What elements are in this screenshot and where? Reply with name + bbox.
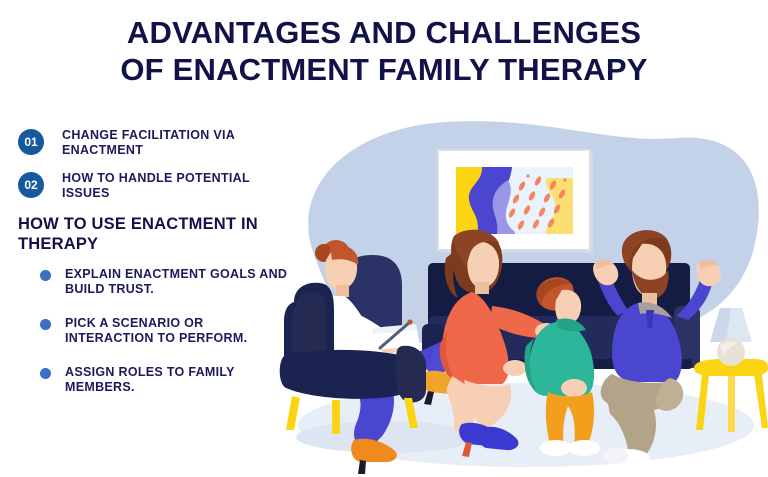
bullet-dot-icon — [40, 319, 51, 330]
content-list: 01 CHANGE FACILITATION VIA ENACTMENT 02 … — [18, 128, 290, 414]
numbered-item: 02 HOW TO HANDLE POTENTIAL ISSUES — [18, 171, 290, 201]
bullet-list: EXPLAIN ENACTMENT GOALS AND BUILD TRUST.… — [18, 267, 290, 395]
list-item: EXPLAIN ENACTMENT GOALS AND BUILD TRUST. — [18, 267, 290, 297]
page-title-line-2: OF ENACTMENT FAMILY THERAPY — [0, 51, 768, 88]
page-title-line-1: ADVANTAGES AND CHALLENGES — [0, 14, 768, 51]
list-item-label: PICK A SCENARIO OR INTERACTION TO PERFOR… — [65, 316, 290, 346]
section-heading: HOW TO USE ENACTMENT IN THERAPY — [18, 214, 290, 254]
numbered-item: 01 CHANGE FACILITATION VIA ENACTMENT — [18, 128, 290, 158]
list-item: PICK A SCENARIO OR INTERACTION TO PERFOR… — [18, 316, 290, 346]
infographic-root: ADVANTAGES AND CHALLENGES OF ENACTMENT F… — [0, 0, 768, 477]
wall-art-content — [456, 167, 573, 234]
bullet-dot-icon — [40, 368, 51, 379]
number-badge: 02 — [18, 172, 44, 198]
list-item: ASSIGN ROLES TO FAMILY MEMBERS. — [18, 365, 290, 395]
table-lamp — [710, 308, 752, 366]
list-item-label: ASSIGN ROLES TO FAMILY MEMBERS. — [65, 365, 290, 395]
bullet-dot-icon — [40, 270, 51, 281]
number-badge: 01 — [18, 129, 44, 155]
list-item-label: EXPLAIN ENACTMENT GOALS AND BUILD TRUST. — [65, 267, 290, 297]
notepad — [372, 324, 420, 350]
page-title: ADVANTAGES AND CHALLENGES OF ENACTMENT F… — [0, 14, 768, 88]
numbered-item-label: CHANGE FACILITATION VIA ENACTMENT — [62, 128, 290, 158]
therapy-scene-illustration — [276, 110, 768, 477]
numbered-item-label: HOW TO HANDLE POTENTIAL ISSUES — [62, 171, 290, 201]
